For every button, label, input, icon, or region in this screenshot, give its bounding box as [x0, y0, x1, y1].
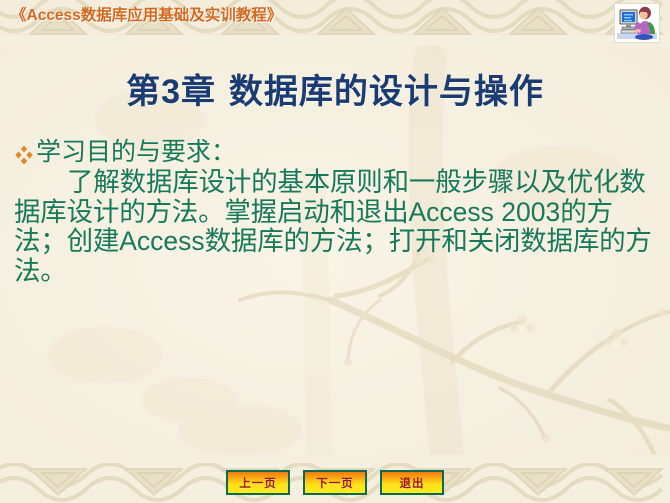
navigation-bar: 上一页 下一页 退出	[0, 470, 670, 495]
content-body: 学习目的与要求： 了解数据库设计的基本原则和一般步骤以及优化数据库设计的方法。掌…	[14, 138, 658, 287]
page-title-prefix: 第	[126, 72, 161, 112]
bullet-label: 学习目的与要求：	[36, 138, 658, 165]
slide-canvas: 《Access数据库应用基础及实训教程》 第3章 数据库的设计与操作	[0, 0, 670, 503]
previous-page-button[interactable]: 上一页	[226, 470, 290, 495]
header-title: 《Access数据库应用基础及实训教程》	[11, 3, 282, 25]
person-at-computer-icon	[614, 3, 660, 43]
next-page-button[interactable]: 下一页	[303, 470, 367, 495]
page-title-number: 3	[161, 73, 181, 111]
paragraph-seg-2: Access 2003	[409, 197, 561, 227]
page-title: 第3章 数据库的设计与操作	[0, 64, 670, 113]
page-title-suffix: 章 数据库的设计与操作	[181, 72, 544, 112]
body-paragraph: 了解数据库设计的基本原则和一般步骤以及优化数据库设计的方法。掌握启动和退出Acc…	[14, 168, 658, 287]
diamond-bullet-icon	[14, 142, 36, 170]
bullet-item: 学习目的与要求：	[14, 138, 658, 166]
paragraph-seg-4: Access	[119, 226, 204, 256]
exit-button[interactable]: 退出	[380, 470, 444, 495]
